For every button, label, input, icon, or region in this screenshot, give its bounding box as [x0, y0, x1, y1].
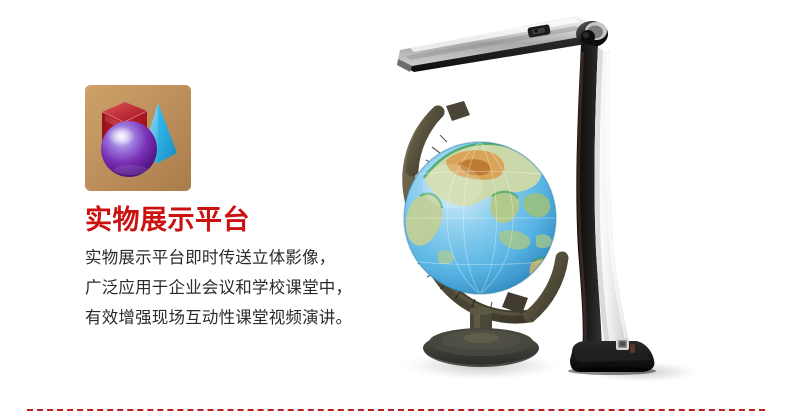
page-title: 实物展示平台	[85, 205, 385, 237]
dotted-divider	[27, 409, 765, 411]
camera-port-panel	[616, 338, 629, 350]
description-line: 有效增强现场互动性课堂视频演讲。	[85, 303, 385, 333]
desk-globe	[404, 101, 576, 367]
description-line: 广泛应用于企业会议和学校课堂中，	[85, 273, 385, 303]
description-line: 实物展示平台即时传送立体影像，	[85, 243, 385, 273]
3d-shapes-icon	[85, 85, 191, 191]
info-panel: 实物展示平台 实物展示平台即时传送立体影像， 广泛应用于企业会议和学校课堂中， …	[85, 85, 385, 333]
camera-hinge	[576, 21, 608, 47]
product-photo	[380, 0, 790, 418]
product-photo-graphic	[380, 0, 790, 418]
page-root: 实物展示平台 实物展示平台即时传送立体影像， 广泛应用于企业会议和学校课堂中， …	[0, 0, 790, 418]
3d-shapes-icon-graphic	[85, 85, 191, 191]
description-block: 实物展示平台即时传送立体影像， 广泛应用于企业会议和学校课堂中， 有效增强现场互…	[85, 243, 385, 333]
